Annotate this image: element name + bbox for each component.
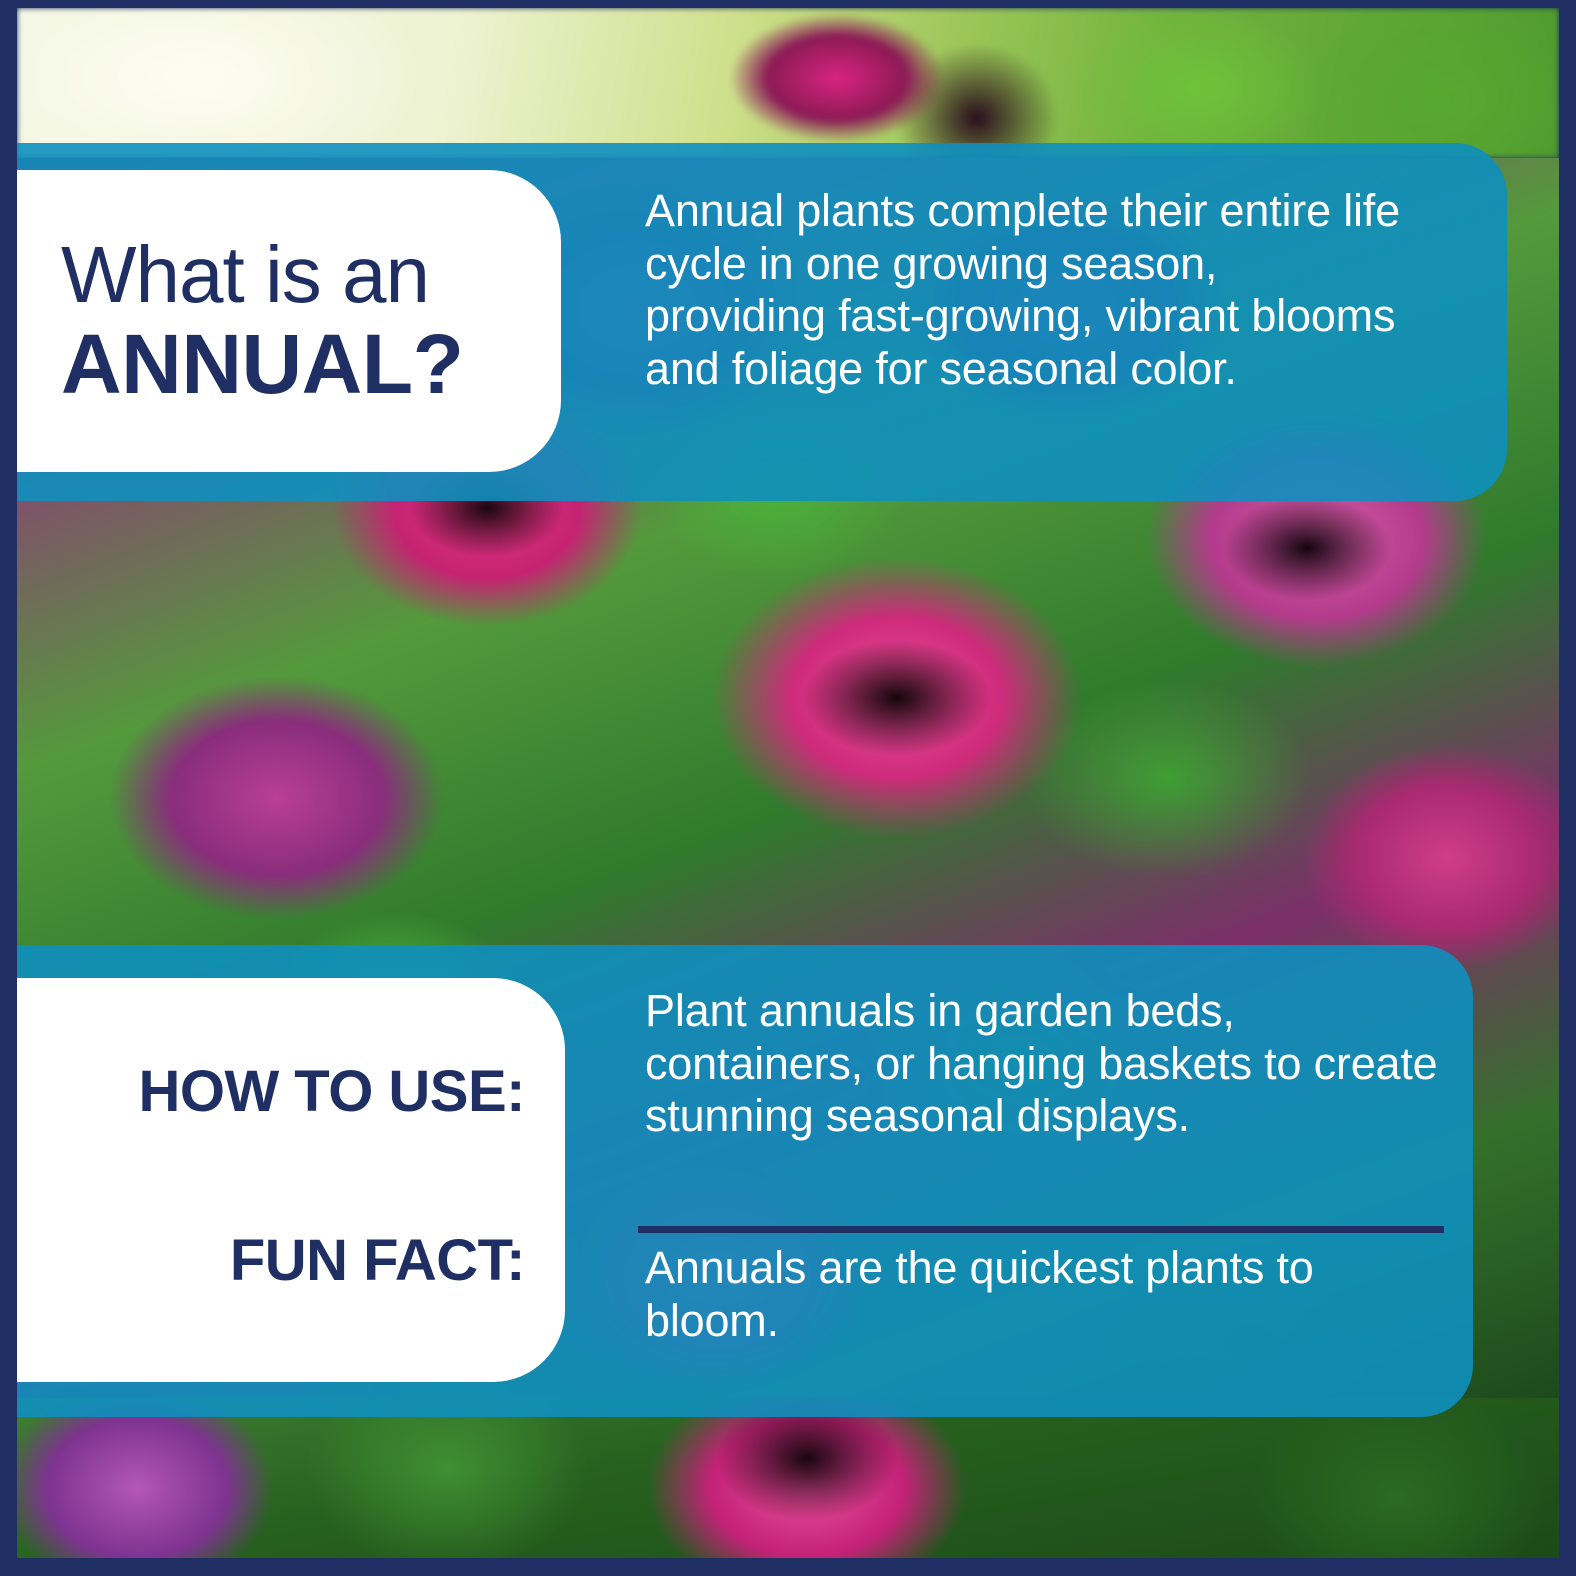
page-title-line1: What is an <box>61 236 429 314</box>
bottom-photo-strip <box>17 1398 1559 1558</box>
page-title-line2: ANNUAL? <box>61 322 463 406</box>
label-card: HOW TO USE: FUN FACT: <box>17 978 565 1382</box>
infographic-card: What is an ANNUAL? Annual plants complet… <box>0 0 1576 1576</box>
fun-fact-text: Annuals are the quickest plants to bloom… <box>645 1242 1345 1347</box>
top-photo-strip <box>17 8 1559 158</box>
fun-fact-label: FUN FACT: <box>230 1231 525 1292</box>
how-to-use-text: Plant annuals in garden beds, containers… <box>645 985 1455 1143</box>
title-card: What is an ANNUAL? <box>17 170 561 472</box>
how-to-use-label: HOW TO USE: <box>138 1062 525 1123</box>
annual-description-text: Annual plants complete their entire life… <box>645 185 1405 396</box>
section-divider <box>638 1226 1444 1233</box>
